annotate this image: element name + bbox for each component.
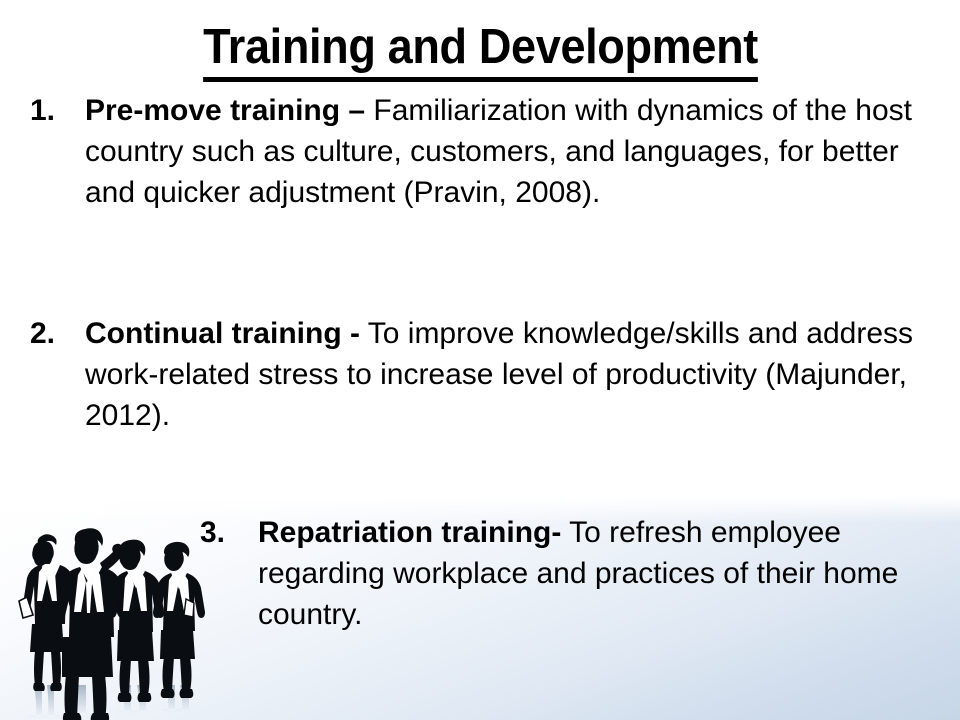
silhouette-woman-right — [153, 542, 205, 698]
list-item-number: 3. — [200, 512, 258, 553]
list-item-body: Pre-move training – Familiarization with… — [85, 90, 940, 213]
list-item-number: 2. — [30, 313, 85, 354]
list-item: 2. Continual training - To improve knowl… — [30, 313, 940, 436]
slide-title: Training and Development — [0, 22, 960, 82]
slide: Training and Development 1. Pre-move tra… — [0, 0, 960, 720]
slide-title-text: Training and Development — [203, 22, 758, 82]
list-item-lead: Repatriation training- — [258, 516, 561, 549]
business-people-silhouettes-icon — [14, 525, 214, 720]
list-item: 1. Pre-move training – Familiarization w… — [30, 90, 940, 213]
list-item-lead: Continual training - — [85, 317, 360, 350]
silhouette-man-phone — [55, 528, 127, 720]
list-item-body: Repatriation training- To refresh employ… — [258, 512, 918, 635]
list-item: 3. Repatriation training- To refresh emp… — [200, 512, 920, 635]
list-item-lead: Pre-move training – — [85, 94, 365, 127]
silhouette-svg — [14, 525, 214, 720]
list-item-number: 1. — [30, 90, 85, 131]
list-item-body: Continual training - To improve knowledg… — [85, 313, 940, 436]
